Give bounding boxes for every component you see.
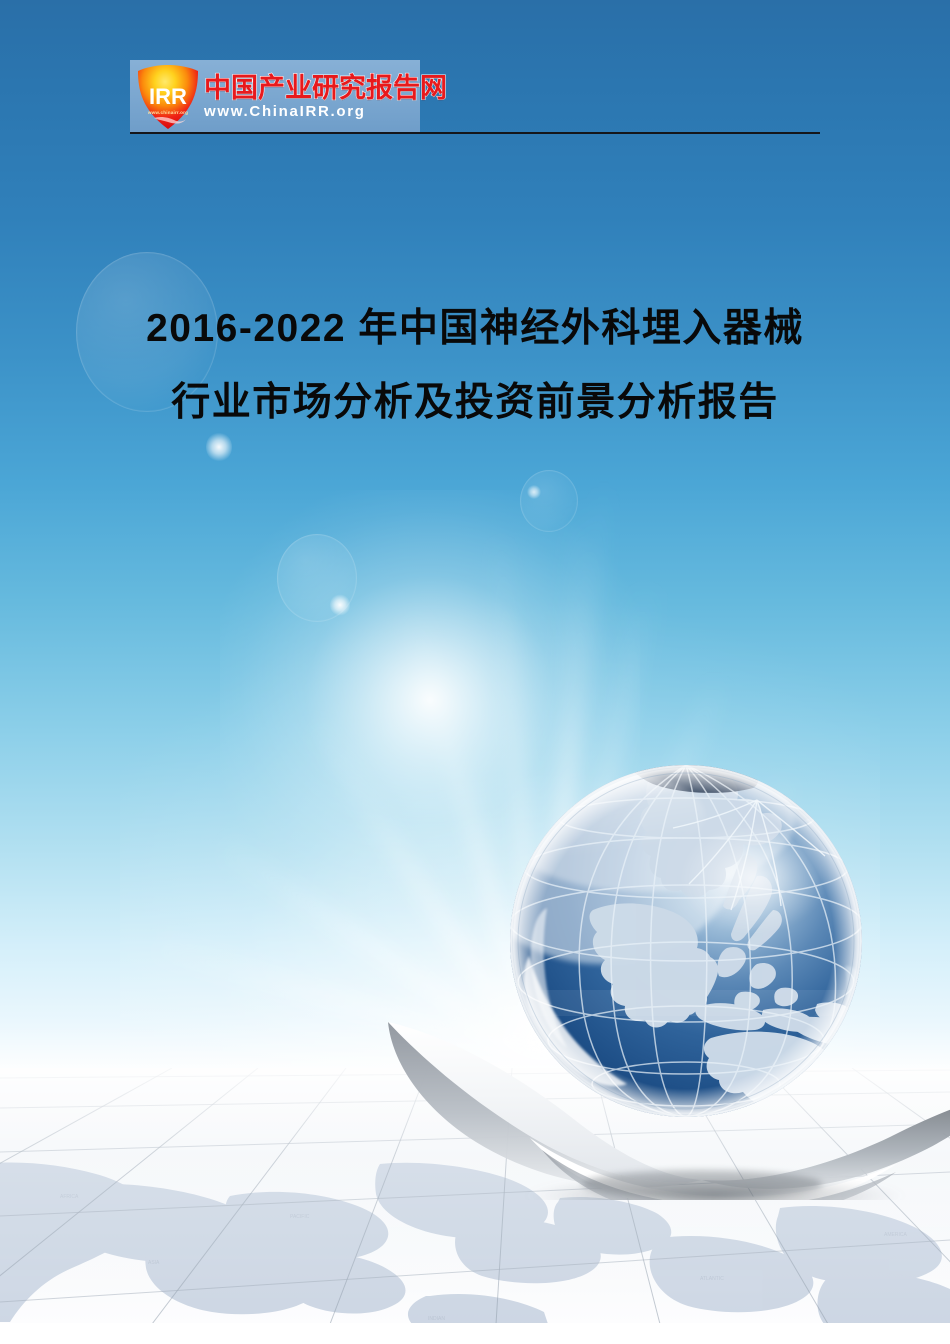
shield-text-irr: IRR: [149, 84, 187, 109]
report-cover-page: AFRICA ASIA PACIFIC ATLANTIC AMERICA IND…: [0, 0, 950, 1344]
irr-shield-logo: IRR www.chinairr.org: [134, 62, 202, 132]
bokeh-circle-small: [520, 470, 578, 532]
page-title: 2016-2022 年中国神经外科埋入器械 行业市场分析及投资前景分析报告: [0, 292, 950, 440]
globe-asia-3d: [505, 760, 867, 1122]
site-logo[interactable]: IRR www.chinairr.org 中国产业研究报告网 www.China…: [130, 60, 420, 134]
bottom-white-margin: [0, 1323, 950, 1344]
logo-company-name: 中国产业研究报告网: [204, 74, 447, 102]
page-title-line-2: 行业市场分析及投资前景分析报告: [0, 366, 950, 440]
lens-flare-dot-3: [527, 485, 541, 499]
logo-text-block: 中国产业研究报告网 www.ChinaIRR.org: [204, 74, 451, 121]
logo-website-url: www.ChinaIRR.org: [204, 103, 447, 120]
shield-url-text: www.chinairr.org: [147, 110, 188, 115]
header-divider: [130, 132, 820, 134]
lens-flare-dot-2: [330, 594, 350, 616]
page-title-line-1: 2016-2022 年中国神经外科埋入器械: [0, 292, 950, 366]
